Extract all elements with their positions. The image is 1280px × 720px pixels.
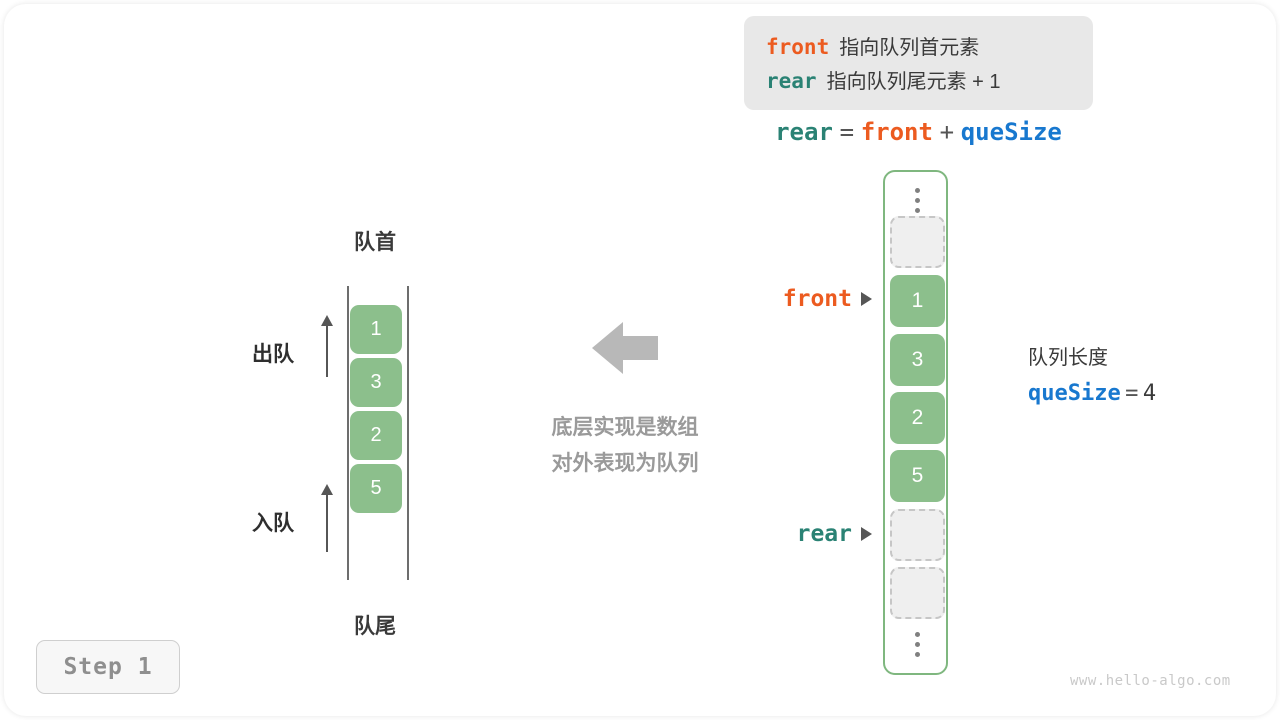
pointer-legend-box: front指向队列首元素 rear指向队列尾元素 + 1 (744, 16, 1093, 110)
legend-keyword-front: front (766, 35, 829, 59)
dequeue-arrow-icon (320, 315, 334, 377)
legend-keyword-rear: rear (766, 69, 817, 93)
array-cell-3[interactable]: 2 (890, 392, 945, 444)
queue-tail-label: 队尾 (300, 610, 450, 640)
quesize-note-label: 队列长度 (1028, 340, 1258, 376)
enqueue-label: 入队 (252, 507, 294, 537)
legend-line-rear: rear指向队列尾元素 + 1 (766, 64, 1093, 98)
array-top-ellipsis-icon (885, 180, 950, 220)
queue-cell-0-value: 1 (370, 318, 381, 341)
rear-pointer-label: rear (700, 521, 872, 547)
formula-quesize: queSize (961, 118, 1062, 146)
array-cell-4[interactable]: 5 (890, 450, 945, 502)
rear-pointer-arrow-icon (861, 527, 872, 541)
rear-formula: rear = front + queSize (744, 118, 1093, 147)
queue-cell-2-value: 2 (370, 424, 381, 447)
center-note-line2: 对外表现为队列 (500, 446, 750, 482)
array-cell-2[interactable]: 3 (890, 334, 945, 386)
array-cell-6[interactable] (890, 567, 945, 619)
quesize-note-equals: = (1125, 381, 1138, 406)
queue-rail-left (347, 286, 349, 580)
dequeue-label: 出队 (252, 338, 294, 368)
queue-cell-1[interactable]: 3 (350, 358, 402, 407)
step-badge-label: Step 1 (63, 654, 152, 680)
implementation-arrow-icon (592, 322, 658, 374)
array-cell-0[interactable] (890, 216, 945, 268)
step-badge: Step 1 (36, 640, 180, 694)
rear-pointer-text: rear (797, 521, 852, 547)
enqueue-arrow-icon (320, 484, 334, 552)
formula-equals: = (840, 118, 854, 146)
front-pointer-arrow-icon (861, 292, 872, 306)
formula-front: front (861, 118, 933, 146)
array-container: 1 3 2 5 (883, 170, 948, 675)
center-note-line1: 底层实现是数组 (500, 410, 750, 446)
legend-line-front: front指向队列首元素 (766, 30, 1093, 64)
array-cell-2-value: 3 (912, 348, 924, 372)
watermark: www.hello-algo.com (1070, 673, 1231, 689)
array-cell-1[interactable]: 1 (890, 275, 945, 327)
queue-cell-3[interactable]: 5 (350, 464, 402, 513)
array-cell-3-value: 2 (912, 406, 924, 430)
array-cell-1-value: 1 (912, 289, 924, 313)
queue-rail-right (407, 286, 409, 580)
formula-plus: + (940, 118, 954, 146)
array-cell-5[interactable] (890, 509, 945, 561)
quesize-note: 队列长度 queSize = 4 (1028, 340, 1258, 414)
queue-cell-1-value: 3 (370, 371, 381, 394)
quesize-note-value: 4 (1143, 381, 1156, 406)
quesize-note-name: queSize (1028, 381, 1121, 406)
queue-cell-3-value: 5 (370, 477, 381, 500)
array-cell-4-value: 5 (912, 464, 924, 488)
legend-text-rear: 指向队列尾元素 + 1 (827, 71, 1001, 93)
queue-head-label: 队首 (300, 226, 450, 256)
front-pointer-text: front (783, 286, 852, 312)
queue-cell-0[interactable]: 1 (350, 305, 402, 354)
array-bottom-ellipsis-icon (885, 624, 950, 664)
center-note: 底层实现是数组 对外表现为队列 (500, 410, 750, 482)
formula-rear: rear (775, 118, 833, 146)
front-pointer-label: front (700, 286, 872, 312)
queue-cell-2[interactable]: 2 (350, 411, 402, 460)
legend-text-front: 指向队列首元素 (839, 37, 979, 59)
